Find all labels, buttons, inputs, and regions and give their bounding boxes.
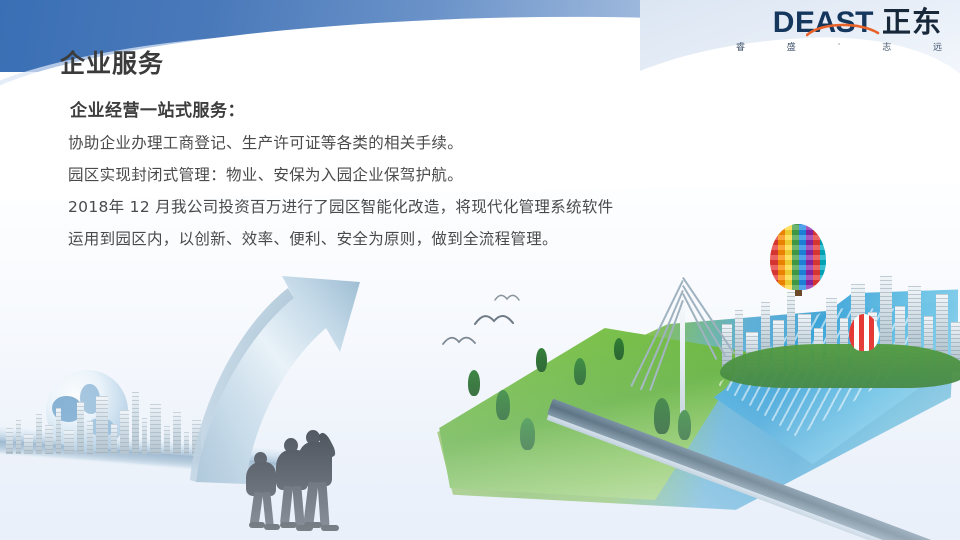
tagline-dot: · [838, 40, 841, 53]
tree [496, 390, 510, 420]
logo-swoosh-icon [806, 21, 880, 37]
tree [678, 410, 691, 440]
business-growth-artwork [0, 278, 414, 540]
body-text-block: 协助企业办理工商登记、生产许可证等各类的相关手续。 园区实现封闭式管理：物业、安… [68, 133, 748, 261]
tree [574, 358, 586, 385]
tagline-char-3: 志 [882, 40, 891, 53]
rainbow-hot-air-balloon-icon [770, 224, 826, 290]
tree [520, 418, 535, 450]
bird-icon [494, 292, 520, 304]
tree [654, 398, 670, 434]
lead-heading: 企业经营一站式服务： [70, 96, 245, 121]
body-paragraph-1: 协助企业办理工商登记、生产许可证等各类的相关手续。 [68, 133, 748, 154]
striped-hot-air-balloon-icon [849, 314, 879, 351]
bird-icon [474, 312, 514, 328]
company-logo[interactable]: D EAST 正东 睿 盛 · 志 远 [732, 7, 942, 59]
bird-icon [442, 334, 476, 348]
logo-letter-d: D [773, 8, 794, 38]
body-paragraph-4: 运用到园区内，以创新、效率、便利、安全为原则，做到全流程管理。 [68, 229, 748, 250]
tagline-char-1: 睿 [736, 40, 745, 53]
tagline-char-4: 远 [933, 40, 942, 53]
logo-chinese-name: 正东 [882, 7, 942, 37]
tagline-char-2: 盛 [787, 40, 796, 53]
eco-city-landscape-artwork [432, 252, 960, 540]
tree [614, 338, 624, 360]
balloon-basket [795, 290, 802, 296]
tree [468, 370, 480, 396]
page-title: 企业服务 [60, 44, 164, 80]
body-paragraph-2: 园区实现封闭式管理：物业、安保为入园企业保驾护航。 [68, 165, 748, 186]
tree-belt [720, 344, 960, 388]
body-paragraph-3: 2018年 12 月我公司投资百万进行了园区智能化改造，将现代化管理系统软件 [68, 197, 748, 218]
slide-canvas: D EAST 正东 睿 盛 · 志 远 企业服务 企业经营一站式服务： 协助企业… [0, 0, 960, 540]
tree [536, 348, 547, 372]
logo-tagline: 睿 盛 · 志 远 [736, 40, 942, 53]
businessmen-group [244, 426, 354, 538]
